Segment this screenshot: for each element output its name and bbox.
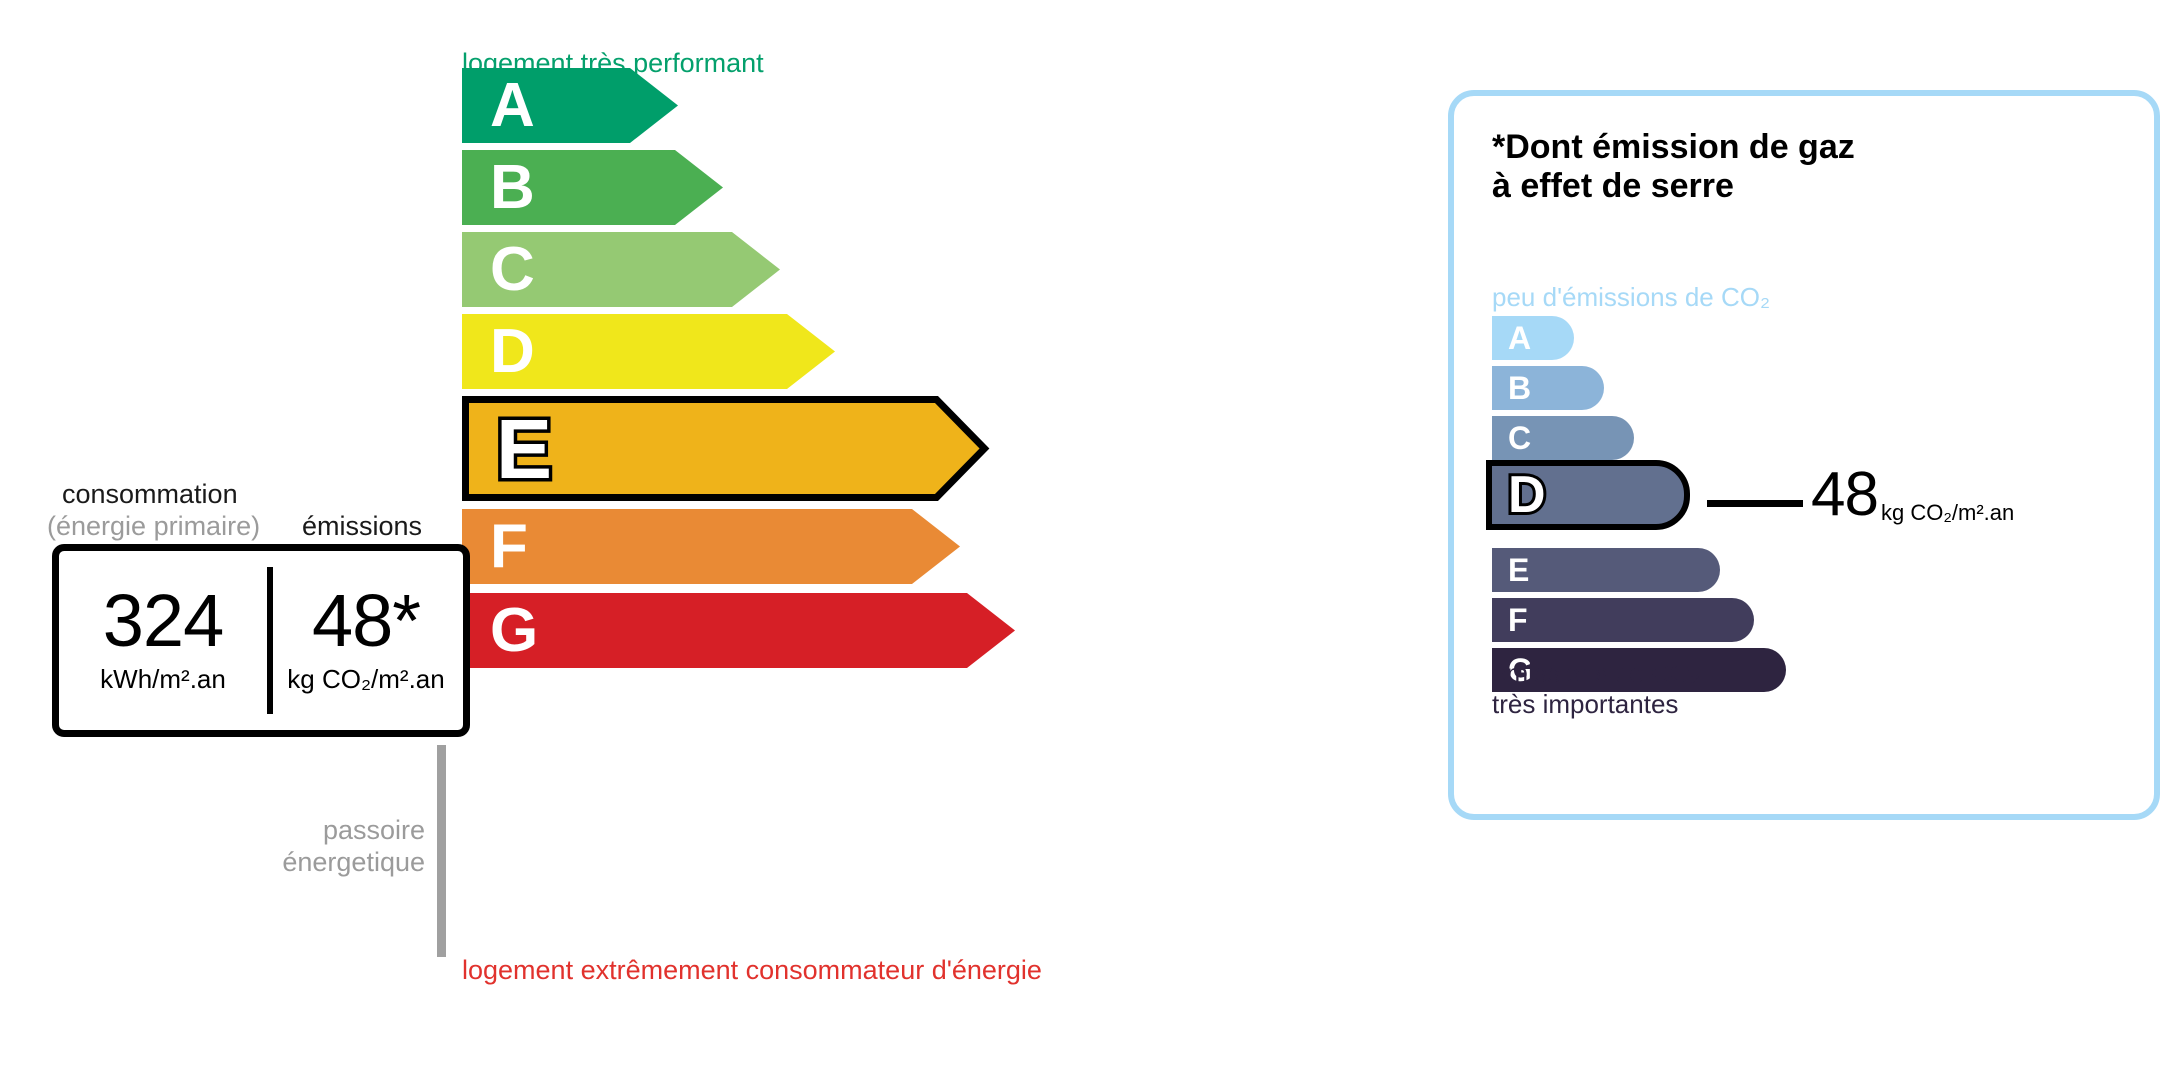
energy-band-g: G bbox=[462, 593, 1015, 668]
co2-bar-letter-b: B bbox=[1508, 372, 1531, 404]
energy-band-f: F bbox=[462, 509, 960, 584]
emission-readout: 48* kg CO₂/m².an bbox=[271, 551, 461, 730]
band-arrow-shape bbox=[462, 509, 960, 584]
band-arrow-shape bbox=[462, 593, 1015, 668]
energy-band-c: C bbox=[462, 232, 780, 307]
emission-value: 48* bbox=[312, 586, 420, 656]
energy-band-a: A bbox=[462, 68, 678, 143]
energy-band-b: B bbox=[462, 150, 723, 225]
energy-band-d: D bbox=[462, 314, 835, 389]
energy-band-letter-d: D bbox=[490, 321, 535, 383]
co2-bottom-caption: émissions de CO₂ très importantes bbox=[1492, 658, 1700, 719]
co2-callout-line bbox=[1707, 500, 1803, 507]
co2-bar-b: B bbox=[1492, 366, 1604, 410]
co2-bar-letter-f: F bbox=[1508, 604, 1528, 636]
co2-callout-value: 48 bbox=[1811, 464, 1878, 526]
energy-band-letter-c: C bbox=[490, 239, 535, 301]
consumption-value: 324 bbox=[103, 586, 223, 656]
emission-unit: kg CO₂/m².an bbox=[287, 664, 444, 695]
co2-bar-e: E bbox=[1492, 548, 1720, 592]
value-readout-box: 324 kWh/m².an 48* kg CO₂/m².an bbox=[52, 544, 470, 737]
passoire-label: passoire énergetique bbox=[250, 815, 425, 879]
scale-bottom-caption: logement extrêmement consommateur d'éner… bbox=[462, 955, 1042, 986]
co2-bar-c: C bbox=[1492, 416, 1634, 460]
co2-panel-title: *Dont émission de gaz à effet de serre bbox=[1492, 128, 1855, 207]
co2-bar-f: F bbox=[1492, 598, 1754, 642]
energy-performance-scale: logement très performant ABCDEFG logemen… bbox=[0, 0, 1380, 1079]
consumption-unit: kWh/m².an bbox=[100, 664, 226, 695]
co2-bar-letter-e: E bbox=[1508, 554, 1529, 586]
energy-band-letter-f: F bbox=[490, 516, 528, 578]
co2-bar-d: D bbox=[1486, 460, 1690, 530]
energy-band-letter-e: E bbox=[496, 407, 552, 491]
energy-band-e: E bbox=[462, 396, 988, 501]
co2-bar-letter-d: D bbox=[1508, 469, 1546, 521]
co2-bar-a: A bbox=[1492, 316, 1574, 360]
consumption-label: consommation bbox=[62, 479, 238, 510]
energy-band-letter-b: B bbox=[490, 157, 535, 219]
energy-band-letter-a: A bbox=[490, 75, 535, 137]
co2-bar-letter-a: A bbox=[1508, 322, 1531, 354]
co2-top-caption: peu d'émissions de CO₂ bbox=[1492, 282, 1770, 313]
primary-energy-label: (énergie primaire) bbox=[47, 511, 260, 542]
co2-callout-unit: kg CO₂/m².an bbox=[1881, 500, 2014, 526]
energy-band-letter-g: G bbox=[490, 600, 538, 662]
consumption-readout: 324 kWh/m².an bbox=[59, 551, 267, 730]
co2-emission-panel: *Dont émission de gaz à effet de serre p… bbox=[1448, 90, 2160, 820]
co2-bar-letter-c: C bbox=[1508, 422, 1531, 454]
emissions-label: émissions bbox=[302, 511, 422, 542]
passoire-marker-bar bbox=[437, 745, 446, 957]
